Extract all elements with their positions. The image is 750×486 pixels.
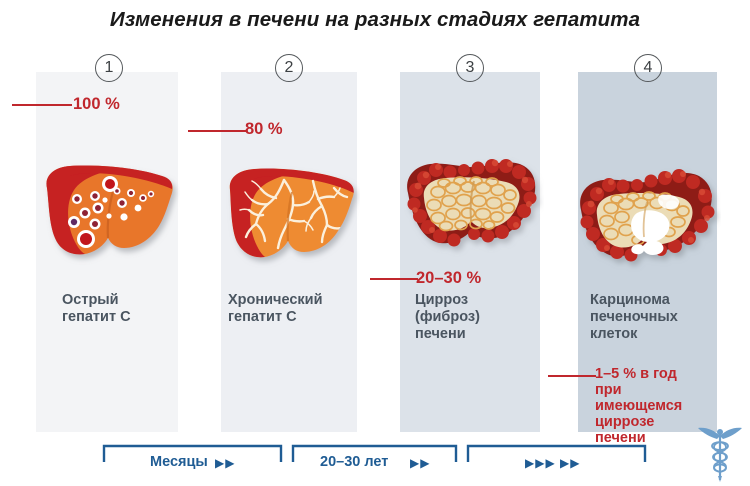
timeline-label-1: Месяцы xyxy=(150,454,208,470)
stage-number-3: 3 xyxy=(456,54,484,82)
stage-number-4: 4 xyxy=(634,54,662,82)
panel-caption-1: Острый гепатит С xyxy=(62,292,131,326)
percent-label-2: 80 % xyxy=(245,120,283,139)
carcinoma-liver xyxy=(573,158,721,276)
timeline-arrows-2: ▶▶ xyxy=(410,456,430,470)
leader-line-4 xyxy=(548,375,596,377)
percent-label-3: 20–30 % xyxy=(416,269,481,288)
timeline-arrows-3: ▶▶▶ ▶▶ xyxy=(525,456,580,470)
cirrhosis-liver xyxy=(398,148,544,266)
leader-line-1 xyxy=(12,104,72,106)
leader-line-3 xyxy=(370,278,418,280)
stage-number-2: 2 xyxy=(275,54,303,82)
panel-caption-2: Хронический гепатит С xyxy=(228,292,323,326)
caduceus-icon xyxy=(694,424,746,484)
leader-line-2 xyxy=(188,130,246,132)
stage-number-1: 1 xyxy=(95,54,123,82)
percent-label-1: 100 % xyxy=(73,95,120,114)
carcinoma-rate-note: 1–5 % в год при имеющемся циррозе печени xyxy=(595,366,682,446)
acute-hepatitis-liver xyxy=(38,160,180,272)
panel-caption-4: Карцинома печеночных клеток xyxy=(590,292,678,343)
chronic-hepatitis-liver xyxy=(218,164,360,272)
panel-caption-3: Цирроз (фиброз) печени xyxy=(415,292,480,343)
timeline-arrows-1: ▶▶ xyxy=(215,456,235,470)
timeline-label-2: 20–30 лет xyxy=(320,454,388,470)
infographic-canvas: Изменения в печени на разных стадиях геп… xyxy=(0,0,750,486)
page-title: Изменения в печени на разных стадиях геп… xyxy=(0,8,750,32)
